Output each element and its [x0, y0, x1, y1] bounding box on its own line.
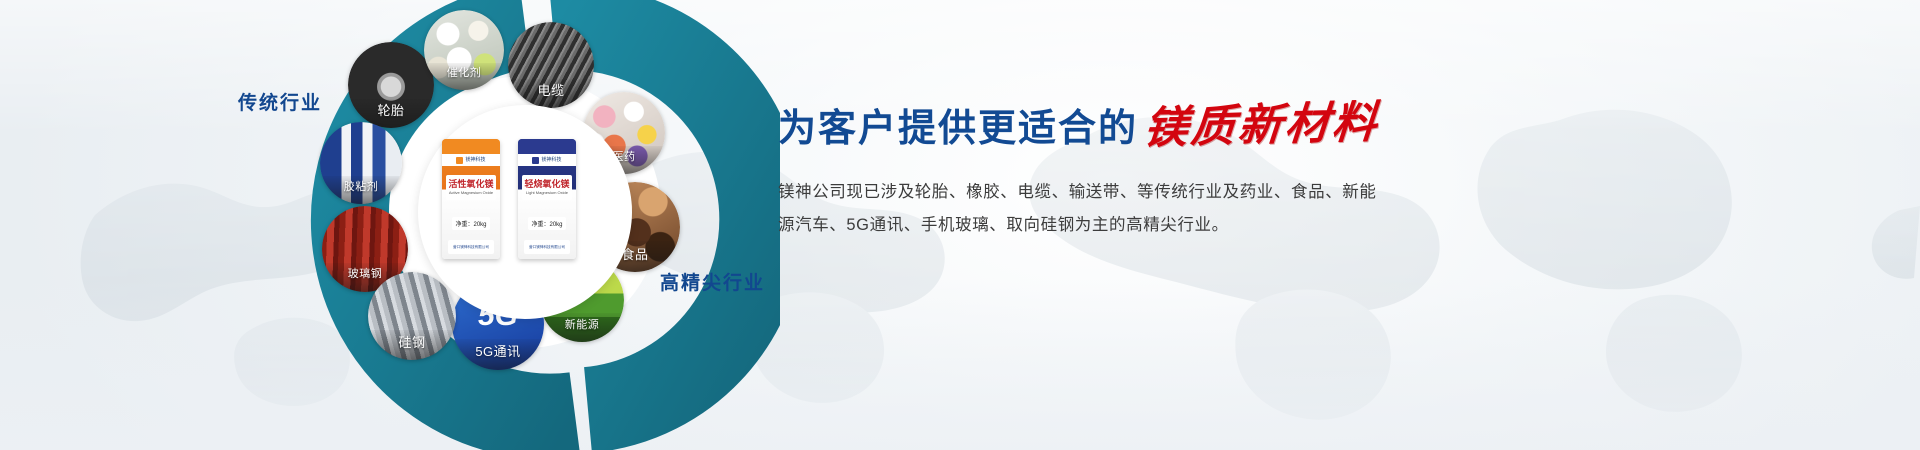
ring-item-new-energy-label: 新能源 — [540, 313, 624, 342]
bag-net-weight-right: 净重：20kg — [528, 217, 566, 230]
bag-net-weight-left: 净重：20kg — [452, 217, 490, 230]
bag-footer-right: 营口镁神科技有限公司 — [524, 240, 570, 254]
bag-subtitle-right: Light Magnesium Oxide — [524, 191, 570, 195]
bag-title-right: 轻烧氧化镁 Light Magnesium Oxide — [522, 175, 572, 200]
ring-item-adhesive[interactable]: 胶粘剂 — [320, 122, 402, 204]
product-disc: 镁神科技 活性氧化镁 Active Magnesium Oxide 净重：20k… — [418, 105, 632, 319]
bag-footer-left: 营口镁神科技有限公司 — [448, 240, 494, 254]
ring-item-silicon[interactable]: 硅钢 — [368, 272, 456, 360]
ring-item-adhesive-label: 胶粘剂 — [320, 176, 402, 204]
bag-subtitle-left: Active Magnesium Oxide — [448, 191, 494, 195]
bag-top-band — [442, 139, 500, 154]
ring-item-tire[interactable]: 轮胎 — [348, 42, 434, 128]
hero-banner: 轮胎 催化剂 电缆 胶粘剂 玻璃钢 医药 食品 新能源 — [0, 0, 1920, 450]
bag-title-left: 活性氧化镁 Active Magnesium Oxide — [446, 175, 496, 200]
ring-item-catalyst[interactable]: 催化剂 — [424, 10, 504, 90]
hero-paragraph: 镁神公司现已涉及轮胎、橡胶、电缆、输送带、等传统行业及药业、食品、新能源汽车、5… — [778, 176, 1388, 242]
product-bag-active-mgo[interactable]: 镁神科技 活性氧化镁 Active Magnesium Oxide 净重：20k… — [442, 139, 500, 259]
ring-item-silicon-label: 硅钢 — [368, 330, 456, 360]
headline-main-text: 为客户提供更适合的 — [778, 110, 1138, 148]
label-traditional-industries: 传统行业 — [238, 88, 322, 115]
label-high-tech-industries: 高精尖行业 — [660, 268, 765, 295]
industry-ring-graphic: 轮胎 催化剂 电缆 胶粘剂 玻璃钢 医药 食品 新能源 — [300, 0, 780, 450]
headline-accent-text: 镁质新材料 — [1142, 101, 1381, 151]
product-bag-light-mgo[interactable]: 镁神科技 轻烧氧化镁 Light Magnesium Oxide 净重：20kg… — [518, 139, 576, 259]
bag-brand-right: 镁神科技 — [518, 154, 576, 166]
ring-item-cable-label: 电缆 — [508, 79, 594, 108]
bag-brand-left: 镁神科技 — [442, 154, 500, 166]
bag-top-band — [518, 139, 576, 154]
ring-item-catalyst-label: 催化剂 — [424, 63, 504, 90]
headline: 为客户提供更适合的 镁质新材料 — [778, 104, 1538, 148]
hero-copy: 为客户提供更适合的 镁质新材料 镁神公司现已涉及轮胎、橡胶、电缆、输送带、等传统… — [778, 104, 1538, 242]
ring-item-cable[interactable]: 电缆 — [508, 22, 594, 108]
ring-item-5g-label: 5G通讯 — [452, 339, 544, 370]
